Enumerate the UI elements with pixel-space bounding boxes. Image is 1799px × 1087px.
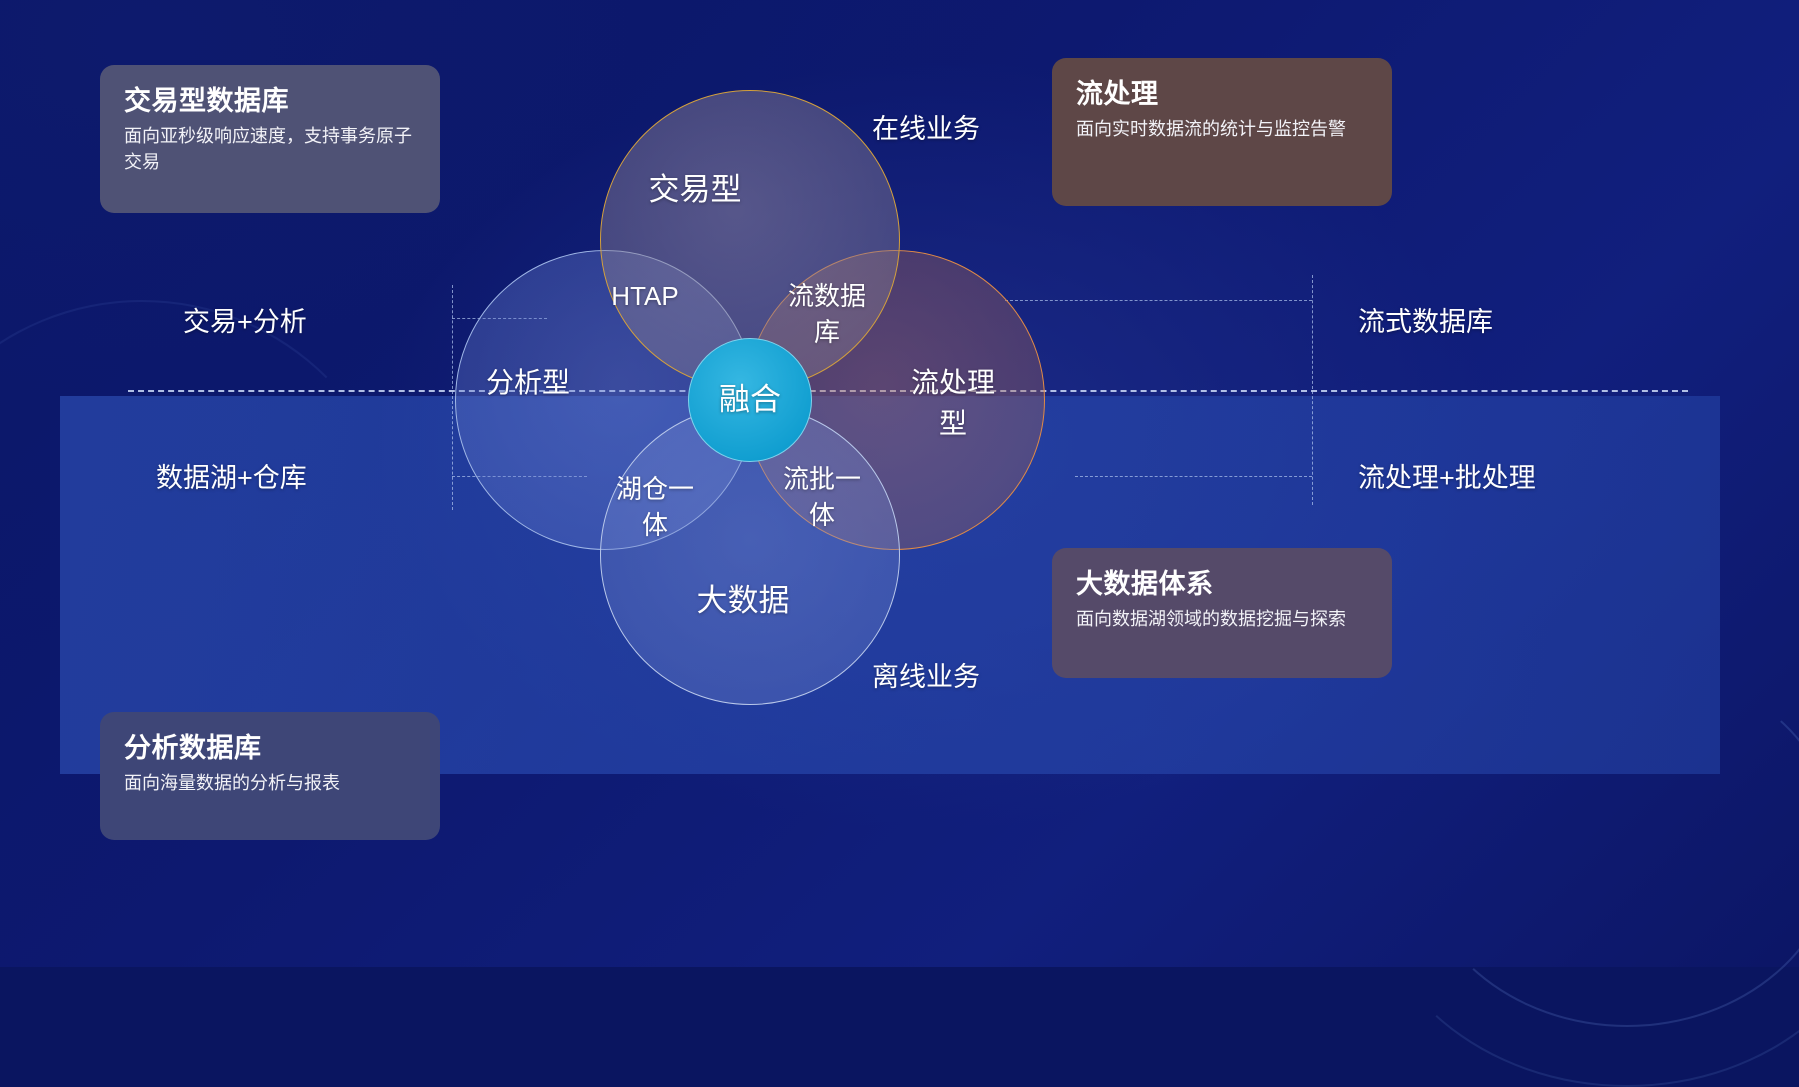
- venn-label-lakehouse-line1: 湖仓一: [616, 475, 694, 505]
- venn-label-streambatch-line1: 流批一: [783, 465, 861, 495]
- card-stream-processing[interactable]: 流处理 面向实时数据流的统计与监控告警: [1052, 58, 1392, 206]
- card-stream-title: 流处理: [1076, 78, 1368, 110]
- annotation-transaction-plus-analytics: 交易+分析: [183, 300, 307, 339]
- right-leader-lower: [1075, 476, 1312, 477]
- venn-diagram: 交易型 分析型 流处理 型 大数据 HTAP 流数据 库 湖仓一 体 流批一 体…: [455, 90, 1025, 650]
- right-bracket-vertical: [1312, 275, 1313, 505]
- annotation-datalake-plus-warehouse: 数据湖+仓库: [156, 456, 307, 495]
- card-bigdata-title: 大数据体系: [1076, 568, 1368, 600]
- card-transactional-database[interactable]: 交易型数据库 面向亚秒级响应速度，支持事务原子交易: [100, 65, 440, 213]
- venn-label-streamdb-line1: 流数据: [788, 282, 866, 312]
- right-leader-upper: [1005, 300, 1312, 301]
- card-analytical-database[interactable]: 分析数据库 面向海量数据的分析与报表: [100, 712, 440, 840]
- venn-label-transactional: 交易型: [649, 172, 742, 208]
- venn-label-stream-line2: 型: [939, 408, 967, 440]
- venn-label-fusion: 融合: [719, 382, 781, 418]
- card-analytical-title: 分析数据库: [124, 732, 416, 764]
- annotation-offline-business: 离线业务: [872, 655, 980, 694]
- card-stream-desc: 面向实时数据流的统计与监控告警: [1076, 116, 1368, 142]
- card-transactional-title: 交易型数据库: [124, 85, 416, 117]
- venn-label-htap: HTAP: [611, 282, 678, 312]
- venn-label-stream-line1: 流处理: [911, 367, 995, 399]
- card-analytical-desc: 面向海量数据的分析与报表: [124, 770, 416, 796]
- annotation-streaming-database: 流式数据库: [1358, 300, 1493, 339]
- venn-label-bigdata: 大数据: [697, 583, 790, 619]
- annotation-online-business: 在线业务: [872, 107, 980, 146]
- card-transactional-desc: 面向亚秒级响应速度，支持事务原子交易: [124, 123, 416, 175]
- card-bigdata-system[interactable]: 大数据体系 面向数据湖领域的数据挖掘与探索: [1052, 548, 1392, 678]
- venn-label-lakehouse-line2: 体: [642, 511, 668, 541]
- annotation-stream-plus-batch: 流处理+批处理: [1358, 456, 1536, 495]
- venn-label-analytical: 分析型: [486, 367, 570, 399]
- venn-label-streamdb-line2: 库: [814, 318, 840, 348]
- card-bigdata-desc: 面向数据湖领域的数据挖掘与探索: [1076, 606, 1368, 632]
- venn-label-streambatch-line2: 体: [809, 501, 835, 531]
